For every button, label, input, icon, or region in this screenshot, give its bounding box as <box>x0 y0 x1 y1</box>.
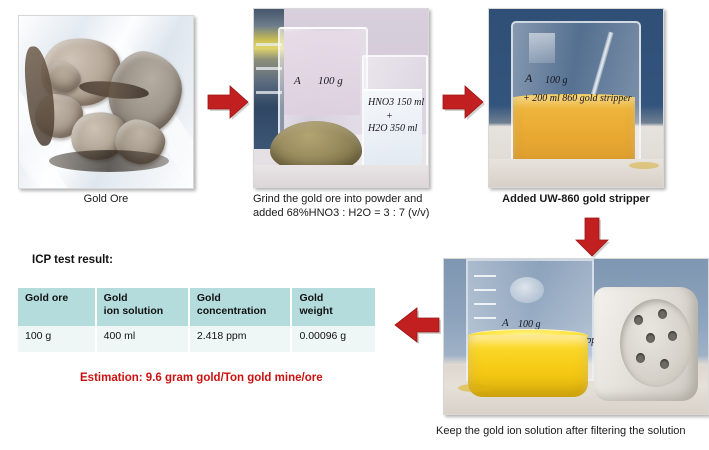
column-header-gold-weight: Gold weight <box>291 288 375 326</box>
column-header-gold-concentration: Gold concentration <box>189 288 292 326</box>
header-line-2: weight <box>299 305 375 318</box>
handwriting-plus: + <box>386 111 393 122</box>
funnel-filter-plate <box>620 299 692 387</box>
cell-gold-concentration: 2.418 ppm <box>189 326 292 352</box>
cell-gold-weight: 0.00096 g <box>291 326 375 352</box>
arrow-stripper-to-filter <box>574 216 612 258</box>
handwriting-sample-mass: 100 g <box>318 75 343 87</box>
caption-add-stripper: Added UW-860 gold stripper <box>478 192 674 206</box>
solution-spill <box>458 384 492 392</box>
caption-line-2: added 68%HNO3 : H2O = 3 : 7 (v/v) <box>253 206 491 220</box>
beaker-graduation-panel <box>529 33 555 63</box>
photo-gold-stripper: A 100 g + 200 ml 860 gold stripper <box>488 8 664 188</box>
header-line-1: Gold ore <box>25 292 95 305</box>
arrow-ore-to-grind <box>206 84 250 120</box>
funnel-hole <box>634 315 643 325</box>
handwriting-sample-id: A <box>294 75 301 87</box>
table-header-row: Gold ore Gold ion solution Gold concentr… <box>18 288 375 326</box>
handwriting-water-volume: H2O 350 ml <box>368 123 417 134</box>
caption-grind-ore: Grind the gold ore into powder and added… <box>253 192 491 220</box>
header-line-1: Gold <box>299 292 375 305</box>
handwriting-sample-mass: 100 g <box>545 75 568 86</box>
arrow-grind-to-stripper <box>441 84 485 120</box>
icp-result-table: Gold ore Gold ion solution Gold concentr… <box>18 288 375 352</box>
beaker-logo <box>510 277 544 303</box>
bench <box>254 165 428 187</box>
funnel-hole <box>668 331 677 341</box>
funnel-hole <box>658 309 667 319</box>
handwriting-acid-volume: HNO3 150 ml <box>368 97 424 108</box>
icp-result-heading: ICP test result: <box>32 254 113 266</box>
header-line-2: ion solution <box>104 305 188 318</box>
header-line-1: Gold <box>104 292 188 305</box>
estimation-text: Estimation: 9.6 gram gold/Ton gold mine/… <box>80 372 323 384</box>
header-line-2: concentration <box>197 305 291 318</box>
cell-gold-ore: 100 g <box>18 326 96 352</box>
beaker-label-card <box>284 31 360 115</box>
funnel-hole <box>646 333 655 343</box>
funnel-hole <box>660 359 669 369</box>
funnel-hole <box>636 353 645 363</box>
caption-line-1: Grind the gold ore into powder and <box>253 192 491 206</box>
handwriting-sample-id: A <box>525 71 532 86</box>
beaker-graduations <box>474 269 496 327</box>
cell-gold-ion-solution: 400 ml <box>96 326 189 352</box>
caption-filter-solution: Keep the gold ion solution after filteri… <box>436 424 709 438</box>
column-header-gold-ore: Gold ore <box>18 288 96 326</box>
header-line-1: Gold <box>197 292 291 305</box>
photo-filtered-solution: A 100 g + 200 ml 860 gold stripper <box>443 258 709 415</box>
caption-gold-ore: Gold Ore <box>18 192 194 206</box>
handwriting-stripper-volume: + 200 ml 860 gold stripper <box>523 93 632 104</box>
handwriting-sample-id: A <box>502 317 509 329</box>
slurry-spill <box>629 162 659 169</box>
figure-canvas: Gold Ore A 100 g HNO3 150 ml + H2O 350 m… <box>0 0 709 450</box>
arrow-filter-to-table <box>393 306 441 344</box>
photo-grind-and-acid: A 100 g HNO3 150 ml + H2O 350 ml <box>253 8 429 188</box>
table-row: 100 g 400 ml 2.418 ppm 0.00096 g <box>18 326 375 352</box>
ore-shadow <box>49 150 169 172</box>
photo-gold-ore <box>18 15 194 189</box>
column-header-gold-ion-solution: Gold ion solution <box>96 288 189 326</box>
